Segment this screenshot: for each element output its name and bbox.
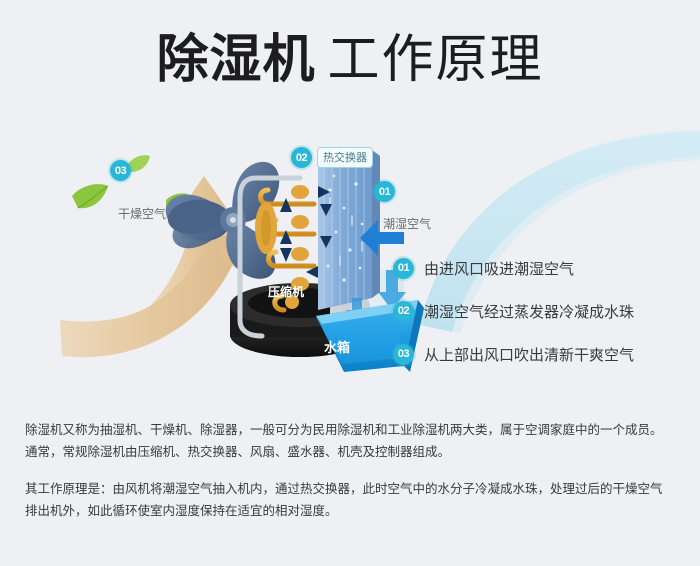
page-title-part1: 除湿机 (156, 30, 315, 90)
legend-item-03: 03 从上部出风口吹出清新干爽空气 (393, 342, 693, 366)
description-paragraph-2: 其工作原理是：由风机将潮湿空气抽入机内，通过热交换器，此时空气中的水分子冷凝成水… (25, 478, 680, 522)
paragraph-2-line-2: 排出机外，如此循环使室内湿度保持在适宜的相对湿度。 (25, 500, 680, 522)
page-title-part2: 工作原理 (328, 30, 544, 90)
page-title: 除湿机工作原理 (0, 34, 700, 86)
legend-item-01: 01 由进风口吸进潮湿空气 (393, 256, 693, 280)
paragraph-1-line-1: 除湿机又称为抽湿机、干燥机、除湿器，一般可分为民用除湿机和工业除湿机两大类，属于… (25, 419, 680, 441)
diagram-label-dry-air: 干燥空气 (118, 205, 166, 222)
diagram-label-water-tank: 水箱 (324, 337, 350, 356)
paragraph-1-line-2: 通常，常规除湿机由压缩机、热交换器、风扇、盛水器、机壳及控制器组成。 (25, 441, 680, 463)
diagram-label-compressor: 压缩机 (268, 283, 304, 300)
legend-badge-02: 02 (393, 301, 414, 322)
legend-badge-03: 03 (393, 344, 414, 365)
diagram-badge-humid-air: 01 (374, 181, 395, 202)
legend-text-03: 从上部出风口吹出清新干爽空气 (424, 344, 634, 365)
infographic-root: 除湿机工作原理 (0, 0, 700, 566)
paragraph-2-line-1: 其工作原理是：由风机将潮湿空气抽入机内，通过热交换器，此时空气中的水分子冷凝成水… (25, 478, 680, 500)
legend-item-02: 02 潮湿空气经过蒸发器冷凝成水珠 (393, 299, 693, 323)
legend-list: 01 由进风口吸进潮湿空气 02 潮湿空气经过蒸发器冷凝成水珠 03 从上部出风… (393, 256, 693, 385)
diagram-label-humid-air: 潮湿空气 (383, 215, 431, 232)
legend-badge-01: 01 (393, 258, 414, 279)
diagram-badge-heat-exchanger: 02 (291, 147, 312, 168)
diagram-label-heat-exchanger: 热交换器 (317, 147, 373, 168)
legend-text-01: 由进风口吸进潮湿空气 (424, 258, 574, 279)
description-paragraph-1: 除湿机又称为抽湿机、干燥机、除湿器，一般可分为民用除湿机和工业除湿机两大类，属于… (25, 419, 680, 463)
diagram-badge-dry-air: 03 (110, 160, 131, 181)
legend-text-02: 潮湿空气经过蒸发器冷凝成水珠 (424, 301, 634, 322)
